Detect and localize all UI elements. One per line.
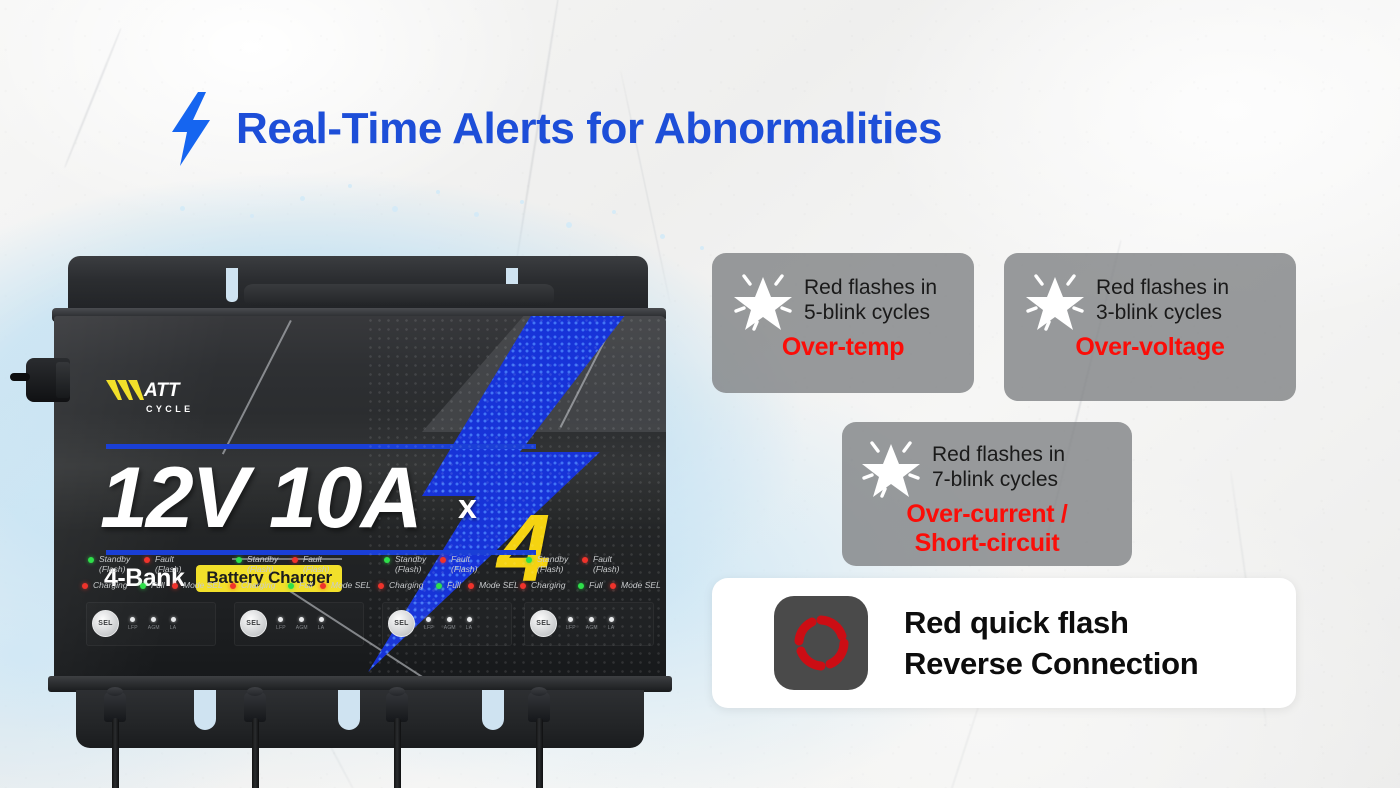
sel-control-group[interactable]: SEL LFP AGM LA [388, 610, 472, 637]
mode-cell: AGM [148, 617, 160, 631]
full-led [436, 583, 442, 589]
fault-label: Fault(Flash) [155, 554, 181, 574]
charging-led [230, 583, 236, 589]
charging-label: Charging [531, 580, 566, 590]
alert-fault-name-block: Over-voltage [1022, 333, 1278, 362]
full-led [288, 583, 294, 589]
page-title-row: Real-Time Alerts for Abnormalities [168, 92, 942, 166]
standby-label: Standby(Flash) [537, 554, 568, 574]
flash-line-2: 3-blink cycles [1096, 300, 1229, 325]
mode-dot [426, 617, 431, 622]
charging-led [82, 583, 88, 589]
charging-label: Charging [241, 580, 276, 590]
mode-dot [589, 617, 594, 622]
mode-dot [299, 617, 304, 622]
standby-led [236, 557, 242, 563]
bank-panel-2: Standby(Flash) Fault(Flash) Charging Ful… [230, 554, 376, 680]
page-title: Real-Time Alerts for Abnormalities [236, 104, 942, 154]
speckle [392, 206, 398, 212]
alert-card-reverse-connection: Red quick flash Reverse Connection [712, 578, 1296, 708]
mode-dot [171, 617, 176, 622]
sel-button[interactable]: SEL [530, 610, 557, 637]
sel-control-group[interactable]: SEL LFP AGM LA [530, 610, 614, 637]
mode-cell: AGM [296, 617, 308, 631]
charging-label: Charging [389, 580, 424, 590]
svg-text:CYCLE: CYCLE [146, 404, 194, 414]
mode-sel-label: Mode SEL [621, 580, 661, 590]
speckle [180, 206, 185, 211]
accent-rule-top [106, 444, 536, 449]
flash-line-1: Red flashes in [804, 275, 937, 300]
base-notch [194, 690, 216, 730]
bank-panel-4: Standby(Flash) Fault(Flash) Charging Ful… [520, 554, 666, 680]
output-cable [536, 718, 543, 788]
base-notch [482, 690, 504, 730]
fault-led [292, 557, 298, 563]
watt-cycle-logo: ATT CYCLE [106, 378, 242, 418]
led-indicator-strip: Standby(Flash) Fault(Flash) Charging Ful… [54, 554, 666, 680]
flash-line-1: Red flashes in [1096, 275, 1229, 300]
reverse-line-2: Reverse Connection [904, 643, 1198, 684]
bank-panel-1: Standby(Flash) Fault(Flash) Charging Ful… [82, 554, 228, 680]
alert-card-over-current: Red flashes in 7-blink cycles Over-curre… [842, 422, 1132, 566]
full-led [140, 583, 146, 589]
standby-led [384, 557, 390, 563]
fault-label: Fault(Flash) [303, 554, 329, 574]
battery-charger-product: 4 ATT CYCLE 12V 10A x 4-Bank Ba [30, 240, 690, 788]
sel-button[interactable]: SEL [92, 610, 119, 637]
sel-button[interactable]: SEL [388, 610, 415, 637]
mode-cell: LFP [566, 617, 576, 631]
reverse-alert-text: Red quick flash Reverse Connection [904, 602, 1198, 684]
mode-led [610, 583, 616, 589]
mode-sel-label: Mode SEL [331, 580, 371, 590]
speckle [436, 190, 440, 194]
full-led [578, 583, 584, 589]
alert-card-top-row: Red flashes in 5-blink cycles [730, 267, 937, 333]
mode-led [172, 583, 178, 589]
charging-led [378, 583, 384, 589]
reverse-line-1: Red quick flash [904, 602, 1198, 643]
speckle [660, 234, 665, 239]
star-flash-icon [1022, 267, 1088, 333]
speckle [566, 222, 572, 228]
mode-dot [609, 617, 614, 622]
mode-cell: LA [608, 617, 615, 631]
mode-dot [319, 617, 324, 622]
fault-name-line-2: Short-circuit [858, 529, 1116, 558]
mode-led-group: LFP AGM LA [566, 617, 614, 631]
mode-sel-label: Mode SEL [183, 580, 223, 590]
red-blink-ring-icon-wrapper [774, 596, 868, 690]
mode-cell: LA [466, 617, 473, 631]
connector-collar [56, 362, 70, 398]
mode-dot [278, 617, 283, 622]
charging-led [520, 583, 526, 589]
mode-led-group: LFP AGM LA [424, 617, 472, 631]
fault-name: Over-voltage [1022, 333, 1278, 362]
spec-text: 12V 10A [100, 450, 421, 546]
lightning-bolt-icon [168, 92, 214, 166]
alert-card-over-voltage: Red flashes in 3-blink cycles Over-volta… [1004, 253, 1296, 401]
charging-label: Charging [93, 580, 128, 590]
alert-card-top-row: Red flashes in 7-blink cycles [858, 434, 1065, 500]
mode-cell: LA [318, 617, 325, 631]
mode-led [320, 583, 326, 589]
speckle [250, 214, 254, 218]
speckle [474, 212, 479, 217]
charger-base [76, 690, 644, 748]
standby-led [88, 557, 94, 563]
fault-name-line-1: Over-current / [858, 500, 1116, 529]
output-cable [394, 718, 401, 788]
ac-input-connector [26, 358, 70, 402]
flash-line-2: 5-blink cycles [804, 300, 937, 325]
output-cable [112, 718, 119, 788]
mode-dot [568, 617, 573, 622]
alert-card-top-row: Red flashes in 3-blink cycles [1022, 267, 1229, 333]
base-notch [338, 690, 360, 730]
fault-name: Over-temp [730, 333, 956, 362]
speckle [300, 196, 305, 201]
alert-flash-text: Red flashes in 5-blink cycles [804, 275, 937, 325]
charger-handle [244, 284, 554, 306]
fault-label: Fault(Flash) [451, 554, 477, 574]
full-label: Full [589, 580, 603, 590]
mode-dot [130, 617, 135, 622]
sel-button[interactable]: SEL [240, 610, 267, 637]
alert-card-over-temp: Red flashes in 5-blink cycles Over-temp [712, 253, 974, 393]
mode-sel-label: Mode SEL [479, 580, 519, 590]
mode-led [468, 583, 474, 589]
svg-text:ATT: ATT [143, 380, 181, 401]
alert-fault-name-block: Over-current / Short-circuit [858, 500, 1116, 558]
fault-led [440, 557, 446, 563]
alert-flash-text: Red flashes in 7-blink cycles [932, 442, 1065, 492]
standby-label: Standby(Flash) [395, 554, 426, 574]
alert-flash-text: Red flashes in 3-blink cycles [1096, 275, 1229, 325]
speckle [520, 200, 524, 204]
full-label: Full [151, 580, 165, 590]
mode-cell: LFP [276, 617, 286, 631]
sel-control-group[interactable]: SEL LFP AGM LA [240, 610, 324, 637]
speckle [612, 210, 616, 214]
mode-led-group: LFP AGM LA [128, 617, 176, 631]
infographic-canvas: Real-Time Alerts for Abnormalities [0, 0, 1400, 788]
mode-cell: LFP [128, 617, 138, 631]
sel-control-group[interactable]: SEL LFP AGM LA [92, 610, 176, 637]
full-label: Full [447, 580, 461, 590]
mode-cell: LA [170, 617, 177, 631]
standby-label: Standby(Flash) [247, 554, 278, 574]
fault-led [144, 557, 150, 563]
mode-cell: AGM [586, 617, 598, 631]
mode-led-group: LFP AGM LA [276, 617, 324, 631]
full-label: Full [299, 580, 313, 590]
flash-line-2: 7-blink cycles [932, 467, 1065, 492]
mode-dot [447, 617, 452, 622]
output-cable [252, 718, 259, 788]
flash-line-1: Red flashes in [932, 442, 1065, 467]
fault-label: Fault(Flash) [593, 554, 619, 574]
cap-notch [226, 268, 238, 302]
mode-dot [467, 617, 472, 622]
star-flash-icon [858, 434, 924, 500]
speckle [700, 246, 704, 250]
star-flash-icon [730, 267, 796, 333]
speckle [348, 184, 352, 188]
alert-fault-name-block: Over-temp [730, 333, 956, 362]
standby-led [526, 557, 532, 563]
red-blink-ring-icon [792, 614, 850, 672]
multiplier-symbol: x [458, 488, 477, 527]
standby-label: Standby(Flash) [99, 554, 130, 574]
mode-cell: AGM [444, 617, 456, 631]
bank-panel-3: Standby(Flash) Fault(Flash) Charging Ful… [378, 554, 524, 680]
fault-led [582, 557, 588, 563]
mode-cell: LFP [424, 617, 434, 631]
mode-dot [151, 617, 156, 622]
